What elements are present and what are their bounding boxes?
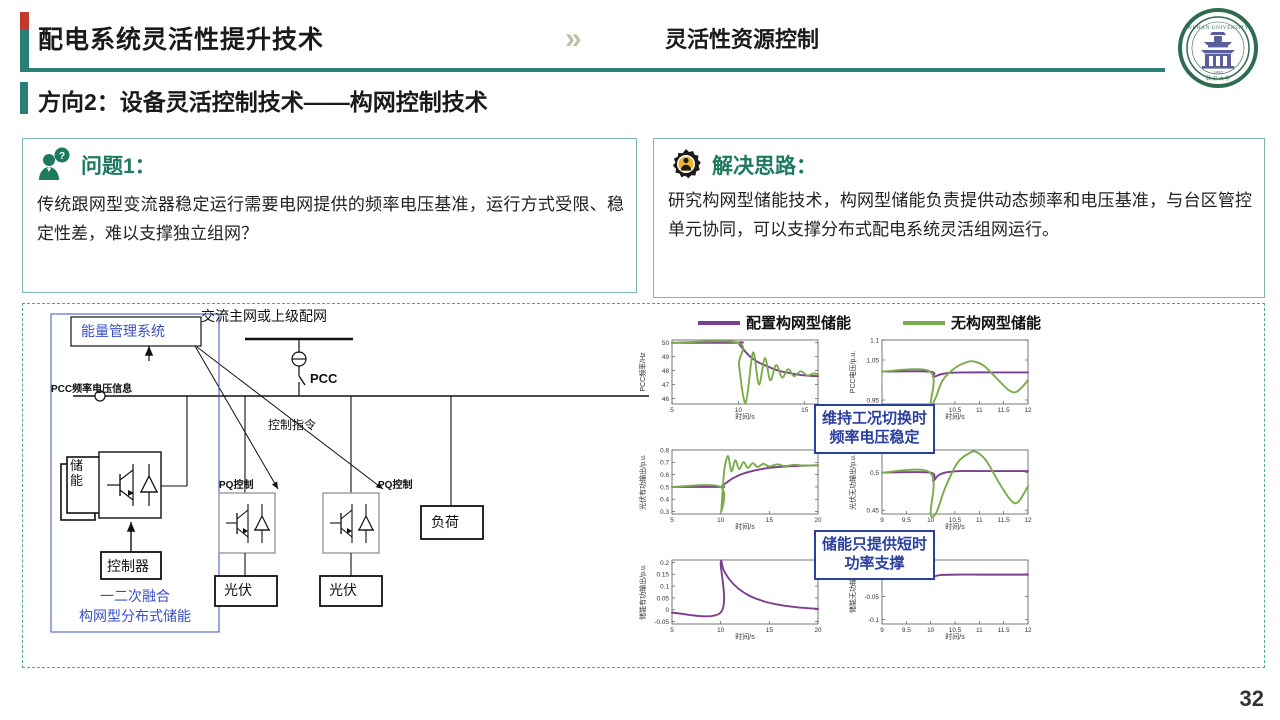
svg-text:光伏无功输出/p.u.: 光伏无功输出/p.u. <box>848 454 857 510</box>
svg-text:50: 50 <box>662 340 670 347</box>
svg-text:11.5: 11.5 <box>998 517 1010 524</box>
legend-swatch-no-grid-forming <box>903 321 945 325</box>
svg-text:10: 10 <box>717 517 725 524</box>
svg-text:10: 10 <box>927 627 935 634</box>
svg-text:11.5: 11.5 <box>998 407 1010 414</box>
svg-text:5: 5 <box>670 627 674 634</box>
circuit-pv-label-1: 光伏 <box>224 580 252 600</box>
problem-title: 问题1： <box>81 150 156 180</box>
plot-pv-active-power: 0.80.70.60.50.40.35101520时间/s光伏有功输出/p.u. <box>638 446 824 530</box>
legend-item-1: 无构网型储能 <box>903 312 1041 333</box>
svg-text:?: ? <box>59 151 65 162</box>
svg-text:11: 11 <box>976 407 983 414</box>
callout-short-term-support: 储能只提供短时 功率支撑 <box>814 530 935 580</box>
header-subtitle: 灵活性资源控制 <box>665 22 819 54</box>
header-divider <box>20 68 1165 72</box>
solution-header: 解决思路： <box>666 147 817 183</box>
solution-text: 研究构网型储能技术，构网型储能负责提供动态频率和电压基准，与台区管控单元协同，可… <box>668 187 1252 245</box>
svg-text:1893: 1893 <box>1213 70 1224 75</box>
svg-text:0.6: 0.6 <box>660 472 669 479</box>
chevron-right-icon: » <box>565 22 576 56</box>
svg-text:时间/s: 时间/s <box>945 632 965 640</box>
svg-text:9.5: 9.5 <box>902 627 911 634</box>
gear-person-icon <box>666 147 706 183</box>
chart-legend: 配置构网型储能 无构网型储能 <box>678 312 1238 334</box>
svg-text:0.1: 0.1 <box>660 583 669 590</box>
direction-bar: 方向2：设备灵活控制技术——构网控制技术 <box>0 78 1280 118</box>
svg-text:5: 5 <box>670 407 674 414</box>
svg-text:11.5: 11.5 <box>998 627 1010 634</box>
svg-text:时间/s: 时间/s <box>735 632 755 640</box>
legend-swatch-grid-forming <box>698 321 740 325</box>
circuit-pq-label-right: PQ控制 <box>378 476 412 491</box>
svg-text:48: 48 <box>662 368 670 375</box>
problem-text: 传统跟网型变流器稳定运行需要电网提供的频率电压基准，运行方式受限、稳定性差，难以… <box>37 191 624 249</box>
solution-title: 解决思路： <box>712 150 817 180</box>
callout-2-line2: 功率支撑 <box>822 555 927 574</box>
svg-text:储能有功输出/p.u.: 储能有功输出/p.u. <box>638 564 647 620</box>
callout-1-line2: 频率电压稳定 <box>822 429 927 448</box>
svg-text:9: 9 <box>880 627 884 634</box>
svg-text:12: 12 <box>1024 517 1032 524</box>
svg-text:11: 11 <box>976 627 983 634</box>
simulation-charts: 配置构网型储能 无构网型储能 504948474651015时间/sPCC频率/… <box>638 312 1266 667</box>
svg-text:10.5: 10.5 <box>949 627 962 634</box>
svg-text:0.15: 0.15 <box>657 572 670 579</box>
svg-text:20: 20 <box>814 627 822 634</box>
svg-text:5: 5 <box>670 517 674 524</box>
callout-frequency-voltage-stable: 维持工况切换时 频率电压稳定 <box>814 404 935 454</box>
svg-text:-0.05: -0.05 <box>864 594 879 601</box>
circuit-pq-label-left: PQ控制 <box>219 476 253 491</box>
svg-text:47: 47 <box>662 382 670 389</box>
direction-title: 方向2：设备灵活控制技术——构网控制技术 <box>38 83 488 117</box>
callout-2-line1: 储能只提供短时 <box>822 536 927 555</box>
circuit-ems-label: 能量管理系统 <box>81 321 165 341</box>
svg-text:1.1: 1.1 <box>870 337 879 344</box>
circuit-caption-line1: 一二次融合 <box>51 586 219 606</box>
svg-text:时间/s: 时间/s <box>735 412 755 420</box>
problem-header: ? 问题1： <box>35 147 156 183</box>
header-accent-teal <box>20 30 29 68</box>
circuit-load-label: 负荷 <box>431 512 459 532</box>
svg-text:46: 46 <box>662 396 670 403</box>
plot-pcc-frequency: 504948474651015时间/sPCC频率/Hz <box>638 336 824 420</box>
svg-text:10: 10 <box>717 627 725 634</box>
svg-text:0.3: 0.3 <box>660 509 669 516</box>
svg-text:49: 49 <box>662 354 670 361</box>
slide-header: 配电系统灵活性提升技术 » 灵活性资源控制 <box>0 0 1280 72</box>
header-accent-red <box>20 12 29 30</box>
svg-text:0.5: 0.5 <box>870 470 879 477</box>
callout-1-line1: 维持工况切换时 <box>822 410 927 429</box>
legend-item-0: 配置构网型储能 <box>698 312 851 333</box>
svg-text:10.5: 10.5 <box>949 517 962 524</box>
svg-text:9: 9 <box>880 517 884 524</box>
svg-text:20: 20 <box>814 517 822 524</box>
svg-text:10.5: 10.5 <box>949 407 962 414</box>
svg-text:11: 11 <box>976 517 983 524</box>
system-architecture-diagram: 交流主网或上级配网 能量管理系统 PCC频率电压信息 PCC 控制指令 储能 控… <box>23 304 663 667</box>
svg-text:-0.05: -0.05 <box>654 619 669 626</box>
circuit-caption-line2: 构网型分布式储能 <box>51 606 219 626</box>
wuhan-university-seal-icon: WUHAN UNIVERSITY 1893 武 汉 大 学 <box>1178 8 1258 88</box>
legend-label-grid-forming: 配置构网型储能 <box>746 312 851 333</box>
svg-text:10: 10 <box>927 517 935 524</box>
svg-text:0.45: 0.45 <box>867 508 880 515</box>
svg-text:10: 10 <box>735 407 743 414</box>
svg-text:WUHAN UNIVERSITY: WUHAN UNIVERSITY <box>1187 25 1249 31</box>
person-question-icon: ? <box>35 147 75 183</box>
content-panel: 交流主网或上级配网 能量管理系统 PCC频率电压信息 PCC 控制指令 储能 控… <box>22 303 1265 668</box>
svg-text:9.5: 9.5 <box>902 517 911 524</box>
plot-ess-active-power: 0.20.150.10.050-0.055101520时间/s储能有功输出/p.… <box>638 556 824 640</box>
page-title: 配电系统灵活性提升技术 <box>38 20 324 56</box>
circuit-controller-label: 控制器 <box>107 556 149 576</box>
svg-text:12: 12 <box>1024 627 1032 634</box>
svg-text:15: 15 <box>801 407 809 414</box>
svg-text:0.2: 0.2 <box>660 560 669 567</box>
circuit-pcc-label: PCC <box>310 371 337 386</box>
svg-text:PCC电压/p.u.: PCC电压/p.u. <box>848 351 857 393</box>
circuit-pcc-info-label: PCC频率电压信息 <box>51 380 132 395</box>
svg-text:-0.1: -0.1 <box>868 617 879 624</box>
svg-text:1.05: 1.05 <box>867 357 880 364</box>
legend-label-no-grid-forming: 无构网型储能 <box>951 312 1041 333</box>
svg-text:时间/s: 时间/s <box>945 412 965 420</box>
svg-text:0.5: 0.5 <box>660 484 669 491</box>
svg-text:0: 0 <box>665 607 669 614</box>
svg-text:时间/s: 时间/s <box>945 522 965 530</box>
svg-text:光伏有功输出/p.u.: 光伏有功输出/p.u. <box>638 454 647 510</box>
svg-text:0.8: 0.8 <box>660 447 669 454</box>
svg-text:时间/s: 时间/s <box>735 522 755 530</box>
plot-pv-reactive-power: 0.50.4599.51010.51111.512时间/s光伏无功输出/p.u. <box>848 446 1034 530</box>
svg-text:15: 15 <box>766 517 774 524</box>
page-number: 32 <box>1240 686 1264 712</box>
svg-text:0.4: 0.4 <box>660 497 669 504</box>
circuit-storage-label: 储能 <box>70 460 94 489</box>
svg-text:12: 12 <box>1024 407 1032 414</box>
svg-text:15: 15 <box>766 627 774 634</box>
svg-text:PCC频率/Hz: PCC频率/Hz <box>638 352 647 392</box>
svg-text:0.7: 0.7 <box>660 460 669 467</box>
solution-box: 解决思路： 研究构网型储能技术，构网型储能负责提供动态频率和电压基准，与台区管控… <box>653 138 1265 298</box>
direction-accent <box>20 82 28 114</box>
circuit-grid-label: 交流主网或上级配网 <box>201 306 327 326</box>
svg-text:0.05: 0.05 <box>657 595 670 602</box>
problem-box: ? 问题1： 传统跟网型变流器稳定运行需要电网提供的频率电压基准，运行方式受限、… <box>22 138 637 293</box>
circuit-pv-label-2: 光伏 <box>329 580 357 600</box>
circuit-control-command-label: 控制指令 <box>268 416 316 433</box>
